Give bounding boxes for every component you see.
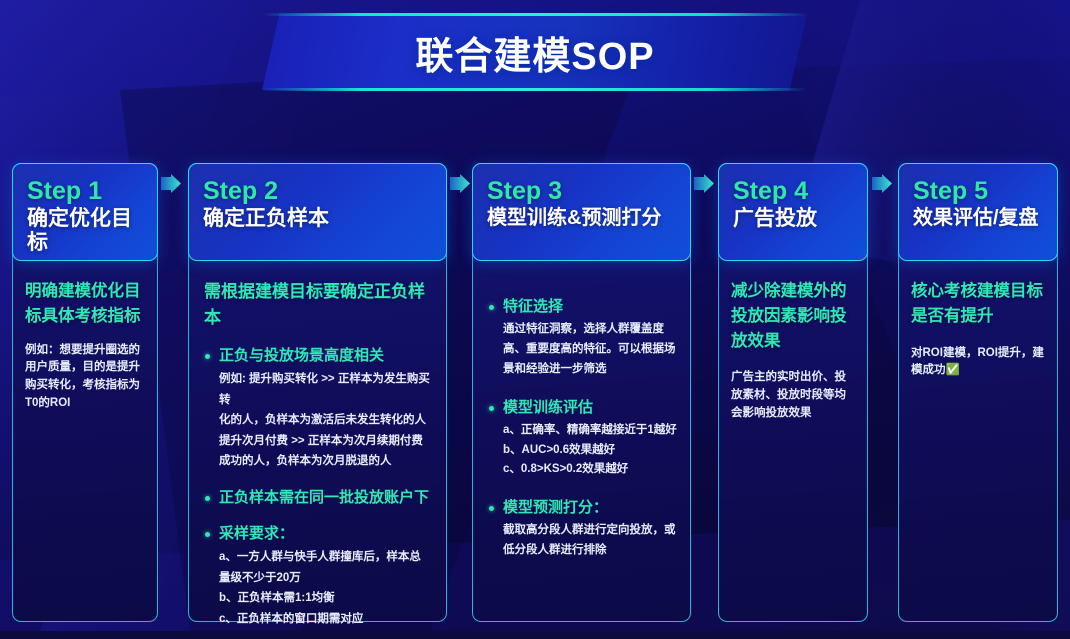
bullet-line: 通过特征洞察，选择人群覆盖度 xyxy=(503,320,677,340)
step-5-number: Step 5 xyxy=(913,178,1043,204)
step-card-2[interactable]: Step 2 确定正负样本 需根据建模目标要确定正负样本 正负与投放场景高度相关… xyxy=(188,163,447,622)
step-3-body: 特征选择 通过特征洞察，选择人群覆盖度 高、重要度高的特征。可以根据场 景和经验… xyxy=(472,261,691,571)
step-1-lead: 明确建模优化目标具体考核指标 xyxy=(25,279,145,329)
bullet-line: 例如: 提升购买转化 >> 正样本为发生购买转 xyxy=(219,369,433,410)
bullet-desc: 通过特征洞察，选择人群覆盖度 高、重要度高的特征。可以根据场 景和经验进一步筛选 xyxy=(503,320,677,379)
step-2-lead: 需根据建模目标要确定正负样本 xyxy=(204,279,433,330)
bullet-line: 景和经验进一步筛选 xyxy=(503,360,677,380)
bullet-title: 采样要求： xyxy=(219,524,433,544)
bullet-line: 截取高分段人群进行定向投放，或 xyxy=(503,521,677,541)
step-2-number: Step 2 xyxy=(203,178,432,204)
bullet-line: 化的人，负样本为激活后未发生转化的人 xyxy=(219,410,433,430)
step-2-subtitle: 确定正负样本 xyxy=(203,207,432,231)
step-3-subtitle: 模型训练&预测打分 xyxy=(487,207,676,230)
step-4-lead: 减少除建模外的投放因素影响投放效果 xyxy=(731,279,855,353)
bullet-line: a、正确率、精确率越接近于1越好 xyxy=(503,421,677,441)
step-1-subtitle: 确定优化目标 xyxy=(27,207,143,255)
list-item: 特征选择 通过特征洞察，选择人群覆盖度 高、重要度高的特征。可以根据场 景和经验… xyxy=(488,297,677,380)
list-item: 正负样本需在同一批投放账户下 xyxy=(204,488,433,508)
bullet-line: a、一方人群与快手人群撞库后，样本总 xyxy=(219,547,433,567)
bullet-title: 特征选择 xyxy=(503,297,677,317)
step-4-number: Step 4 xyxy=(733,178,853,204)
step-5-lead: 核心考核建模目标是否有提升 xyxy=(911,279,1045,329)
bullet-desc: 例如: 提升购买转化 >> 正样本为发生购买转 化的人，负样本为激活后未发生转化… xyxy=(219,369,433,471)
bullet-line: 低分段人群进行排除 xyxy=(503,541,677,561)
step-card-3[interactable]: Step 3 模型训练&预测打分 特征选择 通过特征洞察，选择人群覆盖度 高、重… xyxy=(472,163,691,622)
arrow-step4-to-step5-icon xyxy=(872,174,892,193)
bullet-line: 高、重要度高的特征。可以根据场 xyxy=(503,340,677,360)
list-item: 模型训练评估 a、正确率、精确率越接近于1越好 b、AUC>0.6效果越好 c、… xyxy=(488,398,677,481)
bullet-title: 正负与投放场景高度相关 xyxy=(219,346,433,366)
step-5-body: 核心考核建模目标是否有提升 对ROI建模，ROI提升，建模成功✅ xyxy=(898,261,1058,390)
arrow-step1-to-step2-icon xyxy=(161,174,181,193)
bullet-title: 模型训练评估 xyxy=(503,398,677,418)
step-card-1[interactable]: Step 1 确定优化目标 明确建模优化目标具体考核指标 例如：想要提升圈选的用… xyxy=(12,163,158,622)
step-2-body: 需根据建模目标要确定正负样本 正负与投放场景高度相关 例如: 提升购买转化 >>… xyxy=(188,261,447,639)
step-3-header: Step 3 模型训练&预测打分 xyxy=(472,163,691,261)
list-item: 模型预测打分： 截取高分段人群进行定向投放，或 低分段人群进行排除 xyxy=(488,498,677,561)
step-4-header: Step 4 广告投放 xyxy=(718,163,868,261)
step-3-bullet-list: 特征选择 通过特征洞察，选择人群覆盖度 高、重要度高的特征。可以根据场 景和经验… xyxy=(488,297,677,561)
step-5-header: Step 5 效果评估/复盘 xyxy=(898,163,1058,261)
step-card-5[interactable]: Step 5 效果评估/复盘 核心考核建模目标是否有提升 对ROI建模，ROI提… xyxy=(898,163,1058,622)
bullet-line: 量级不少于20万 xyxy=(219,568,433,588)
arrow-step3-to-step4-icon xyxy=(694,174,714,193)
bullet-title: 模型预测打分： xyxy=(503,498,677,518)
step-2-header: Step 2 确定正负样本 xyxy=(188,163,447,261)
steps-container: Step 1 确定优化目标 明确建模优化目标具体考核指标 例如：想要提升圈选的用… xyxy=(0,0,1070,631)
list-item: 正负与投放场景高度相关 例如: 提升购买转化 >> 正样本为发生购买转 化的人，… xyxy=(204,346,433,472)
step-4-note: 广告主的实时出价、投放素材、投放时段等均会影响投放效果 xyxy=(731,369,855,422)
step-1-number: Step 1 xyxy=(27,178,143,204)
bullet-desc: 截取高分段人群进行定向投放，或 低分段人群进行排除 xyxy=(503,521,677,561)
step-1-note: 例如：想要提升圈选的用户质量，目的是提升购买转化，考核指标为T0的ROI xyxy=(25,342,145,413)
step-card-4[interactable]: Step 4 广告投放 减少除建模外的投放因素影响投放效果 广告主的实时出价、投… xyxy=(718,163,868,622)
step-5-subtitle: 效果评估/复盘 xyxy=(913,207,1043,230)
bullet-line: 成功的人，负样本为次月脱退的人 xyxy=(219,451,433,471)
bullet-desc: a、一方人群与快手人群撞库后，样本总 量级不少于20万 b、正负样本需1:1均衡… xyxy=(219,547,433,629)
step-1-body: 明确建模优化目标具体考核指标 例如：想要提升圈选的用户质量，目的是提升购买转化，… xyxy=(12,261,158,423)
arrow-step2-to-step3-icon xyxy=(450,174,470,193)
bullet-line: c、0.8>KS>0.2效果越好 xyxy=(503,460,677,480)
step-1-header: Step 1 确定优化目标 xyxy=(12,163,158,261)
bullet-line: b、正负样本需1:1均衡 xyxy=(219,588,433,608)
bullet-line: 提升次月付费 >> 正样本为次月续期付费 xyxy=(219,431,433,451)
bullet-desc: a、正确率、精确率越接近于1越好 b、AUC>0.6效果越好 c、0.8>KS>… xyxy=(503,421,677,480)
step-2-bullet-list: 正负与投放场景高度相关 例如: 提升购买转化 >> 正样本为发生购买转 化的人，… xyxy=(204,346,433,629)
bullet-line: b、AUC>0.6效果越好 xyxy=(503,441,677,461)
list-item: 采样要求： a、一方人群与快手人群撞库后，样本总 量级不少于20万 b、正负样本… xyxy=(204,524,433,629)
step-4-body: 减少除建模外的投放因素影响投放效果 广告主的实时出价、投放素材、投放时段等均会影… xyxy=(718,261,868,433)
bullet-line: c、正负样本的窗口期需对应 xyxy=(219,609,433,629)
step-4-subtitle: 广告投放 xyxy=(733,207,853,231)
step-5-note: 对ROI建模，ROI提升，建模成功✅ xyxy=(911,345,1045,381)
bullet-title: 正负样本需在同一批投放账户下 xyxy=(219,488,433,508)
step-3-number: Step 3 xyxy=(487,178,676,204)
